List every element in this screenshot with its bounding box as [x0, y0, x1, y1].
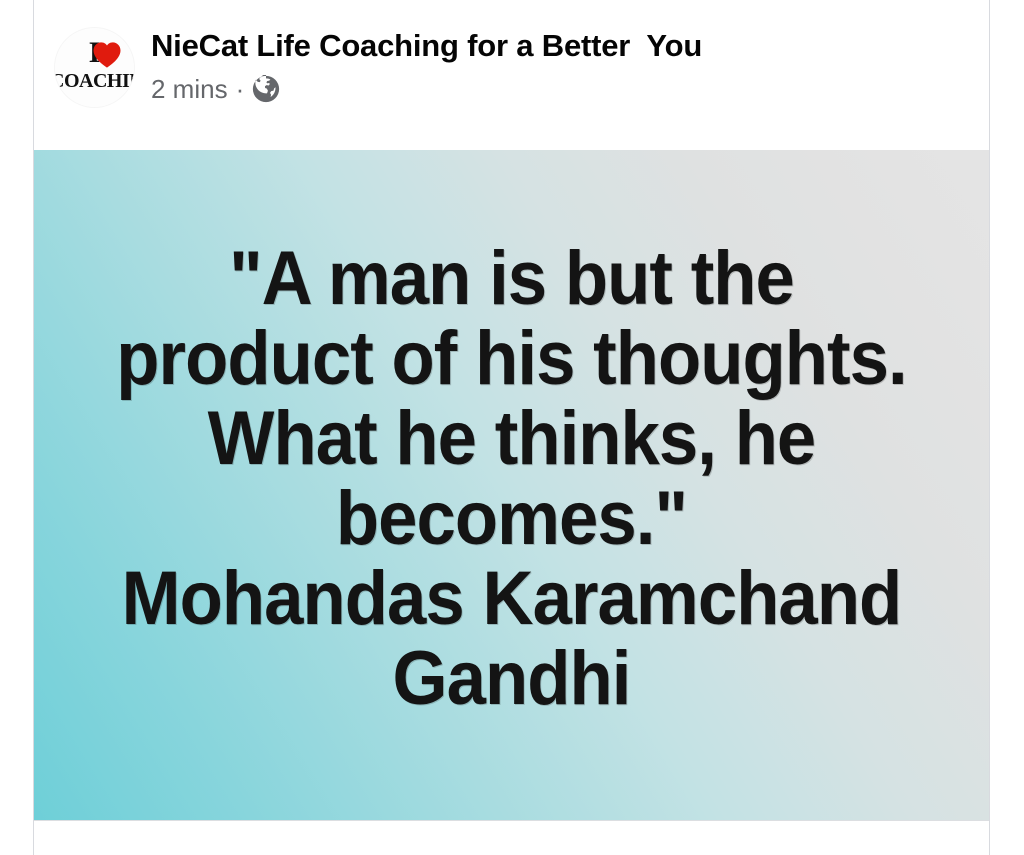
quote-line-2: product of his thoughts. — [84, 319, 939, 399]
post-card: I COACHING NieCat Life Coaching for a Be… — [33, 0, 990, 855]
post-footer-strip — [34, 820, 989, 855]
heart-icon — [92, 41, 122, 68]
quote-line-4: becomes." — [84, 479, 939, 559]
quote-attribution-line-1: Mohandas Karamchand — [84, 559, 939, 639]
post-header: I COACHING NieCat Life Coaching for a Be… — [34, 0, 989, 150]
avatar-text-coaching: COACHING — [55, 70, 134, 92]
post-timestamp[interactable]: 2 mins — [151, 74, 228, 104]
meta-separator: · — [236, 74, 245, 104]
quote-text-block: "A man is but the product of his thought… — [34, 239, 989, 719]
facebook-post-screenshot: I COACHING NieCat Life Coaching for a Be… — [0, 0, 1024, 855]
globe-icon[interactable] — [252, 75, 280, 103]
quote-line-3: What he thinks, he — [84, 399, 939, 479]
post-header-text: NieCat Life Coaching for a Better You 2 … — [151, 22, 702, 104]
quote-line-1: "A man is but the — [84, 239, 939, 319]
page-name[interactable]: NieCat Life Coaching for a Better You — [151, 28, 702, 64]
quote-attribution-line-2: Gandhi — [84, 639, 939, 719]
quote-image[interactable]: "A man is but the product of his thought… — [34, 150, 989, 820]
post-meta: 2 mins · — [151, 74, 702, 104]
avatar[interactable]: I COACHING — [55, 28, 134, 107]
